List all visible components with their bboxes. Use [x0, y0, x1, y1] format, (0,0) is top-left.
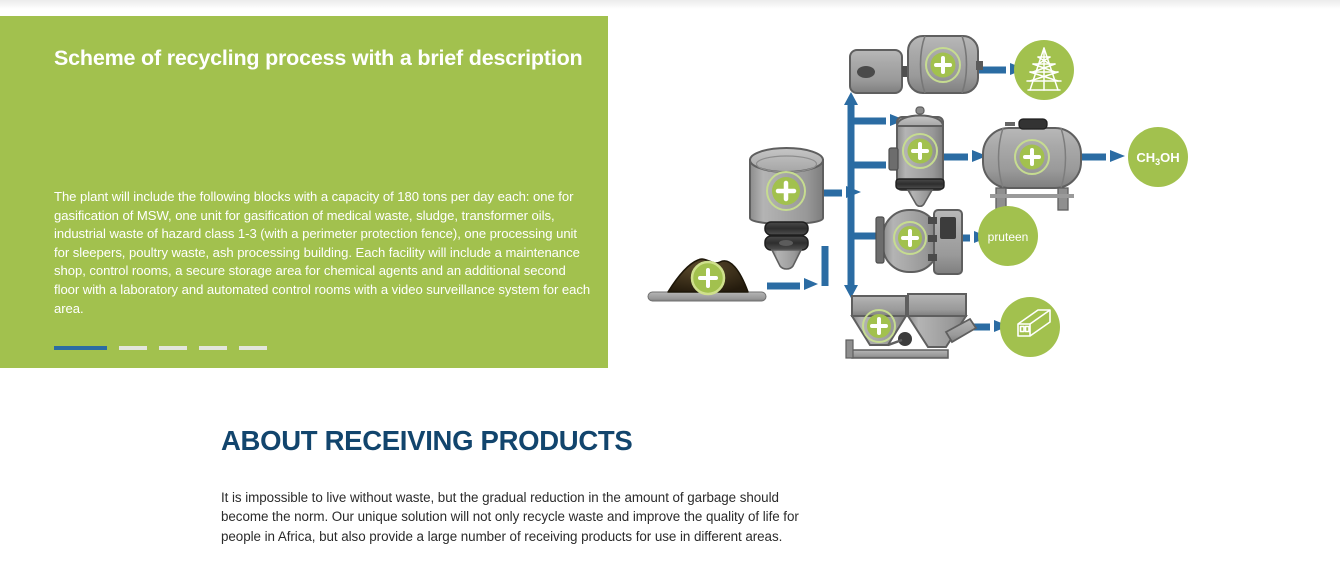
pruteen-product-circle: pruteen [978, 206, 1038, 266]
power-pylon-icon [1014, 40, 1074, 100]
hero-title: Scheme of recycling process with a brief… [54, 46, 594, 72]
pruteen-label: pruteen [988, 230, 1029, 244]
methanol-product-circle: CH3OH [1128, 127, 1188, 187]
slider-pagination[interactable] [54, 346, 267, 350]
about-title: ABOUT RECEIVING PRODUCTS [221, 425, 632, 457]
hero-description: The plant will include the following blo… [54, 188, 594, 318]
about-description: It is impossible to live without waste, … [221, 488, 821, 546]
gasifier-vessel-icon [750, 148, 823, 269]
pagination-dash-5[interactable] [239, 346, 267, 350]
pagination-dash-2[interactable] [119, 346, 147, 350]
gas-generator-icon [850, 36, 983, 93]
twin-hopper-icon [846, 294, 976, 358]
about-description-text: It is impossible to live without waste, … [221, 488, 821, 546]
vertical-reactor-icon [889, 107, 944, 206]
top-browser-strip [0, 0, 1340, 9]
pagination-dash-4[interactable] [199, 346, 227, 350]
brick-block-icon [1000, 297, 1060, 357]
recycling-process-diagram: CH3OH pruteen [640, 14, 1200, 374]
page-root: Scheme of recycling process with a brief… [0, 0, 1340, 576]
pagination-dash-3[interactable] [159, 346, 187, 350]
horizontal-storage-tank-icon [983, 119, 1081, 210]
hero-description-text: The plant will include the following blo… [54, 188, 594, 318]
about-receiving-products-section: ABOUT RECEIVING PRODUCTS It is impossibl… [0, 396, 1340, 576]
fermenter-unit-icon [876, 210, 962, 274]
hero-green-panel: Scheme of recycling process with a brief… [0, 16, 608, 368]
waste-pile-icon [648, 259, 766, 301]
pagination-dash-1[interactable] [54, 346, 107, 350]
